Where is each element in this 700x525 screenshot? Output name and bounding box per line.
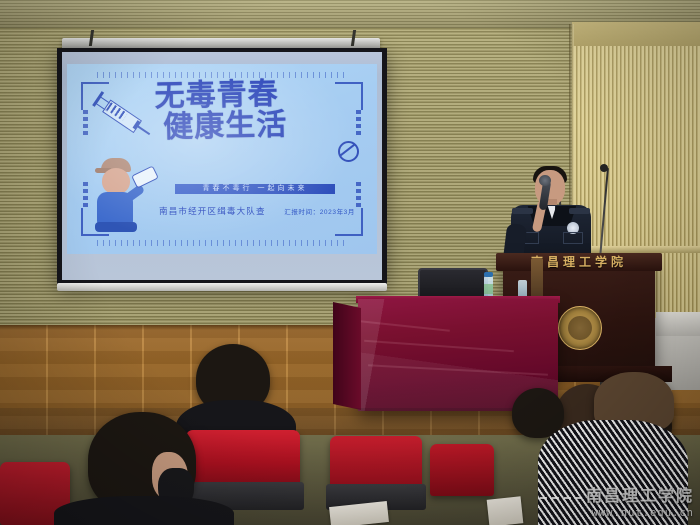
water-bottle-cap: [484, 272, 493, 277]
boy-drinking-icon: [89, 156, 159, 234]
no-drug-stamp-icon: [338, 141, 359, 162]
right-wall-top-trim: [572, 22, 700, 46]
podium-sign-text: 南昌理工学院: [496, 253, 662, 271]
drape-fold-3: [360, 320, 450, 331]
gooseneck-microphone-head: [600, 164, 608, 172]
handout-paper-2: [487, 496, 524, 525]
audience-tweed-jacket: [538, 420, 688, 525]
speaker-pocket-right: [563, 232, 583, 244]
speaker-police-officer: [505, 166, 597, 266]
microphone-head-icon: [539, 175, 551, 186]
slide-organization: 南昌市经开区缉毒大队查: [159, 205, 266, 217]
watermark-dash: [540, 497, 582, 499]
drape-fold-2: [368, 364, 548, 375]
slide-dots-right-bottom: [356, 182, 361, 208]
slide-subtitle: 青春不毒行 一起向未来: [175, 184, 335, 194]
water-bottle-label: [484, 284, 493, 294]
syringe-needle: [136, 124, 150, 135]
table-drape-side: [333, 302, 361, 410]
audience-shoulders-front: [54, 496, 234, 525]
slide-title: 无毒青春 健康生活: [154, 78, 360, 143]
boy-head: [102, 168, 130, 194]
speaker-epaulette-left: [512, 208, 533, 214]
presentation-slide: 无毒青春 健康生活 青春不毒行 一起向未来 南昌市经开区缉毒大队查 汇报时间：2…: [67, 64, 377, 254]
slide-tick-line-bottom: [97, 240, 347, 246]
auditorium-seat-3: [430, 444, 494, 496]
slide-dots-left-bottom: [83, 182, 88, 208]
equipment-printer: [656, 312, 700, 336]
university-emblem-icon: [558, 306, 602, 350]
boy-legs: [95, 222, 137, 232]
podium-top-sign: 南昌理工学院: [496, 253, 662, 271]
drape-fold-1: [364, 340, 514, 352]
slide-title-line2: 健康生活: [163, 108, 361, 143]
auditorium-seat-1: [186, 430, 300, 490]
screen-bottom-bar: [57, 283, 387, 291]
speaker-epaulette-right: [569, 208, 590, 214]
slide-date: 汇报时间：2023年3月: [284, 206, 355, 216]
lecture-hall-photo: 无毒青春 健康生活 青春不毒行 一起向未来 南昌市经开区缉毒大队查 汇报时间：2…: [0, 0, 700, 525]
boy-bottle: [131, 165, 159, 188]
